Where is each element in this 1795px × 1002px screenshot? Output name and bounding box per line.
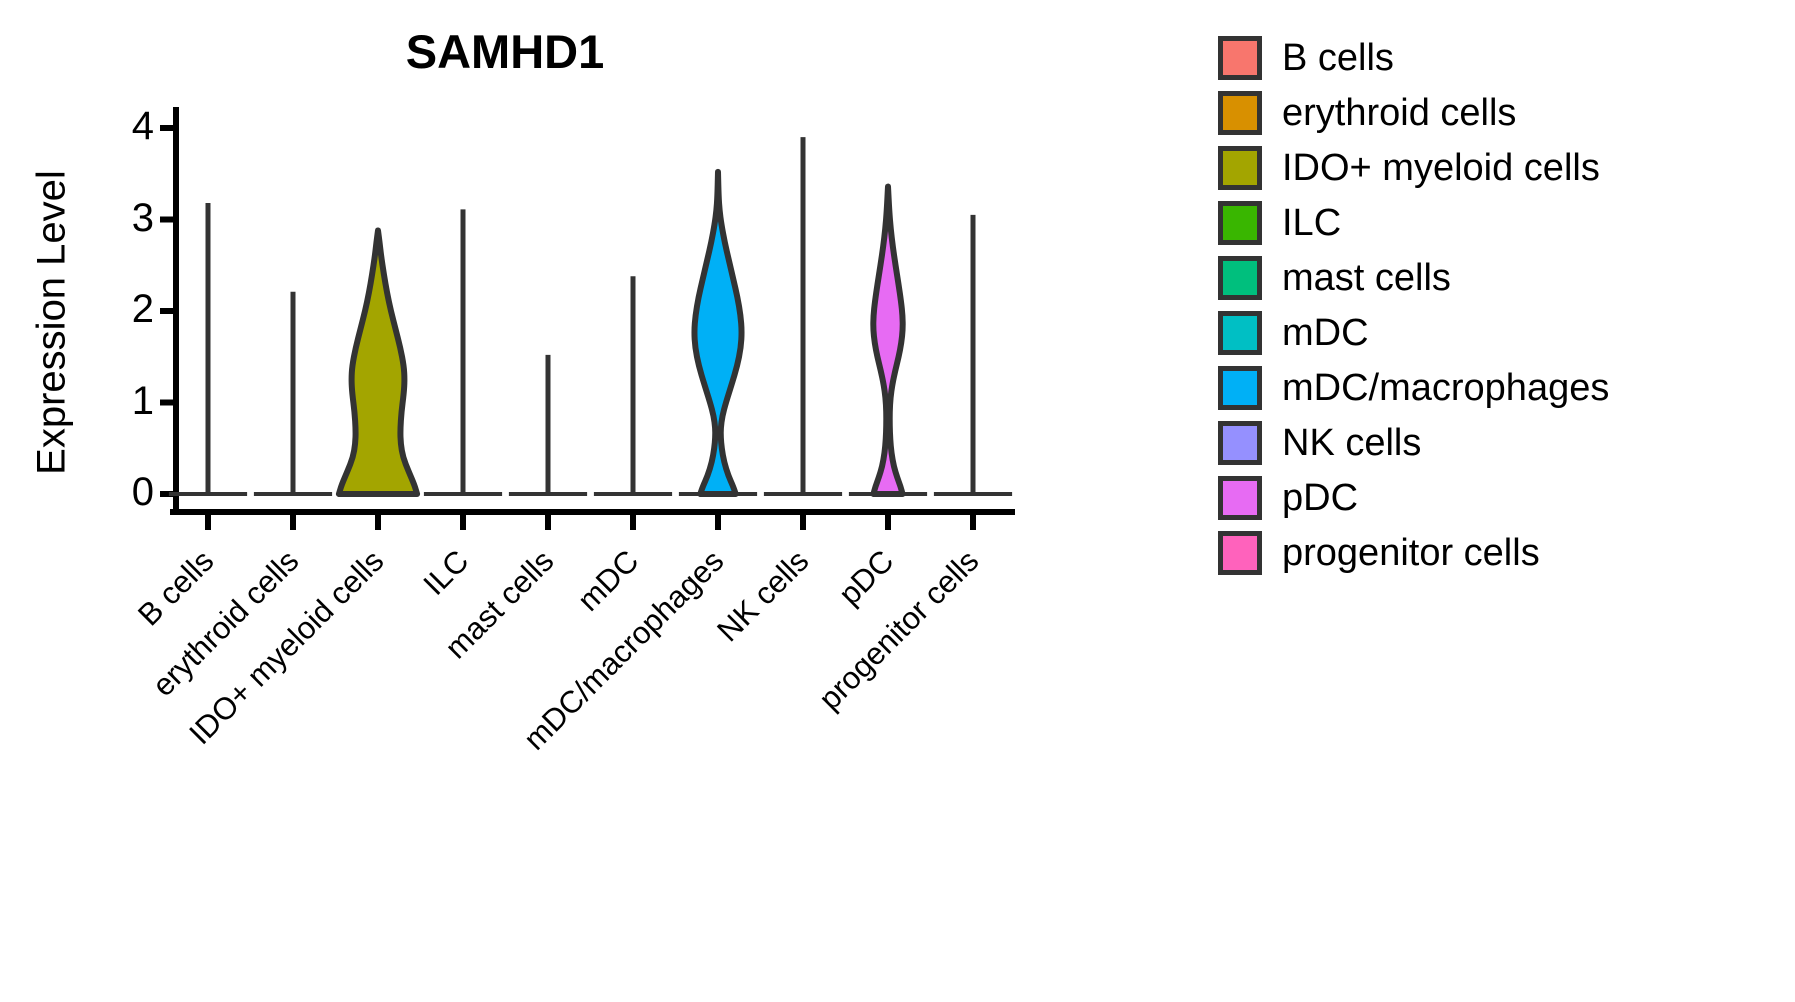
legend-color-swatch — [1218, 146, 1262, 190]
legend-label: pDC — [1282, 479, 1358, 517]
legend-item[interactable]: mDC/macrophages — [1218, 360, 1778, 415]
legend-color-swatch — [1218, 91, 1262, 135]
plot-area: SAMHD1 Expression Level 01234 B cellsery… — [0, 0, 1060, 1002]
legend-item[interactable]: ILC — [1218, 195, 1778, 250]
y-tick-label: 1 — [108, 381, 154, 421]
legend-label: mast cells — [1282, 259, 1451, 297]
y-tick-label: 3 — [108, 198, 154, 238]
violin-plot-figure: SAMHD1 Expression Level 01234 B cellsery… — [0, 0, 1795, 1002]
legend-item[interactable]: NK cells — [1218, 415, 1778, 470]
legend-item[interactable]: erythroid cells — [1218, 85, 1778, 140]
legend-label: mDC — [1282, 314, 1369, 352]
legend-label: progenitor cells — [1282, 534, 1540, 572]
legend: B cellserythroid cellsIDO+ myeloid cells… — [1218, 30, 1778, 580]
legend-color-swatch — [1218, 201, 1262, 245]
legend-item[interactable]: pDC — [1218, 470, 1778, 525]
y-tick-label: 0 — [108, 472, 154, 512]
legend-color-swatch — [1218, 531, 1262, 575]
legend-label: NK cells — [1282, 424, 1421, 462]
legend-color-swatch — [1218, 311, 1262, 355]
legend-color-swatch — [1218, 421, 1262, 465]
legend-label: IDO+ myeloid cells — [1282, 149, 1600, 187]
legend-item[interactable]: progenitor cells — [1218, 525, 1778, 580]
legend-color-swatch — [1218, 366, 1262, 410]
legend-label: ILC — [1282, 204, 1341, 242]
legend-item[interactable]: mDC — [1218, 305, 1778, 360]
legend-color-swatch — [1218, 476, 1262, 520]
legend-label: B cells — [1282, 39, 1394, 77]
legend-color-swatch — [1218, 36, 1262, 80]
legend-label: erythroid cells — [1282, 94, 1516, 132]
legend-item[interactable]: IDO+ myeloid cells — [1218, 140, 1778, 195]
legend-label: mDC/macrophages — [1282, 369, 1609, 407]
violin-ido-myeloid-cells — [339, 228, 417, 494]
violin-pdc — [873, 185, 902, 494]
legend-item[interactable]: B cells — [1218, 30, 1778, 85]
legend-item[interactable]: mast cells — [1218, 250, 1778, 305]
y-tick-label: 2 — [108, 289, 154, 329]
legend-color-swatch — [1218, 256, 1262, 300]
violin-mdc-macrophages — [694, 170, 741, 494]
y-tick-label: 4 — [108, 106, 154, 146]
